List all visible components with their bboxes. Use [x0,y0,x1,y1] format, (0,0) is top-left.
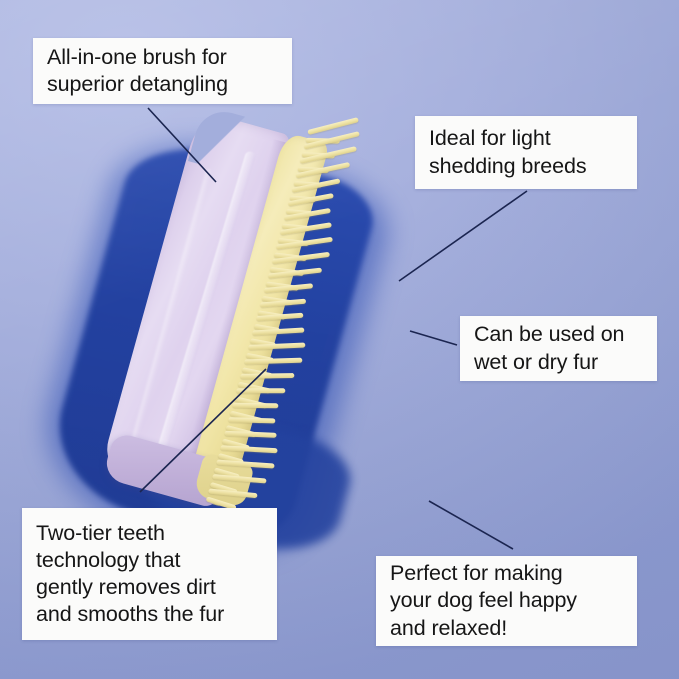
callout-line: Perfect for making [390,560,623,587]
callout-line: Ideal for light [429,125,623,152]
bristle-tooth-long [224,431,276,438]
product-infographic: All-in-one brush for superior detangling… [0,0,679,679]
callout-line: Two-tier teeth [36,520,263,547]
callout-line: superior detangling [47,71,278,98]
bristle-tooth-long [216,460,274,469]
callout-line: technology that [36,547,263,574]
callout-all-in-one-brush: All-in-one brush for superior detangling [33,38,292,104]
bristle-tooth-long [244,358,302,365]
callout-two-tier-teeth: Two-tier teeth technology that gently re… [22,508,277,640]
bristle-tooth-long [236,388,285,393]
bristle-tooth-long [248,343,305,350]
bristle-tooth-long [208,489,257,499]
bristle-tooth-long [240,373,294,379]
callout-line: Can be used on [474,321,643,348]
callout-line: and relaxed! [390,615,623,642]
bristle-tooth-long [212,474,267,483]
callout-line: and smooths the fur [36,601,263,628]
bristle-tooth-long [232,403,278,409]
callout-happy-and-relaxed: Perfect for making your dog feel happy a… [376,556,637,646]
callout-wet-or-dry-fur: Can be used on wet or dry fur [460,316,657,381]
callout-line: your dog feel happy [390,587,623,614]
bristle-tooth-long [228,417,276,423]
callout-line: All-in-one brush for [47,44,278,71]
bristle-tooth-long [220,446,277,454]
callout-line: shedding breeds [429,153,623,180]
callout-line: gently removes dirt [36,574,263,601]
callout-light-shedding-breeds: Ideal for light shedding breeds [415,116,637,189]
callout-line: wet or dry fur [474,349,643,376]
